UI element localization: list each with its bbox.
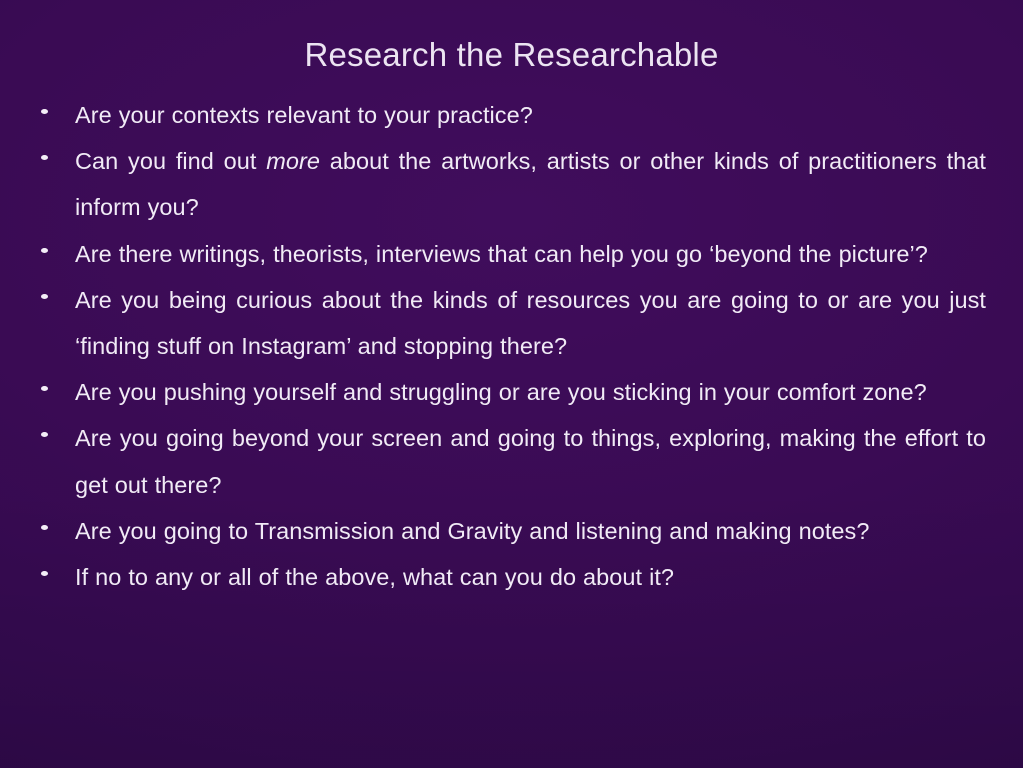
list-item: Are you going to Transmission and Gravit… <box>0 508 1023 554</box>
bullet-item-text: Are there writings, theorists, interview… <box>75 231 986 277</box>
bullet-item-text: Can you find out more about the artworks… <box>75 138 986 230</box>
bullet-item-text: Are you going beyond your screen and goi… <box>75 415 986 507</box>
list-item: If no to any or all of the above, what c… <box>0 554 1023 600</box>
bullet-text-segment-leading: Can you find out <box>75 148 266 174</box>
bullet-point-icon <box>41 109 48 114</box>
bullet-point-icon <box>41 155 48 160</box>
bullet-list: Are your contexts relevant to your pract… <box>0 92 1023 600</box>
presentation-slide: Research the Researchable Are your conte… <box>0 0 1023 768</box>
list-item: Are there writings, theorists, interview… <box>0 231 1023 277</box>
list-item: Are your contexts relevant to your pract… <box>0 92 1023 138</box>
bullet-point-icon <box>41 294 48 299</box>
list-item: Are you going beyond your screen and goi… <box>0 415 1023 507</box>
list-item: Are you pushing yourself and struggling … <box>0 369 1023 415</box>
bullet-point-icon <box>41 248 48 253</box>
list-item: Are you being curious about the kinds of… <box>0 277 1023 369</box>
bullet-item-text: Are you pushing yourself and struggling … <box>75 369 986 415</box>
bullet-point-icon <box>41 386 48 391</box>
bullet-item-text: If no to any or all of the above, what c… <box>75 554 986 600</box>
bullet-item-text: Are you going to Transmission and Gravit… <box>75 508 986 554</box>
slide-title: Research the Researchable <box>0 34 1023 76</box>
bullet-item-text: Are your contexts relevant to your pract… <box>75 92 986 138</box>
bullet-item-text: Are you being curious about the kinds of… <box>75 277 986 369</box>
bullet-point-icon <box>41 525 48 530</box>
bullet-point-icon <box>41 571 48 576</box>
bullet-text-emphasis: more <box>266 148 320 174</box>
list-item: Can you find out more about the artworks… <box>0 138 1023 230</box>
bullet-point-icon <box>41 432 48 437</box>
